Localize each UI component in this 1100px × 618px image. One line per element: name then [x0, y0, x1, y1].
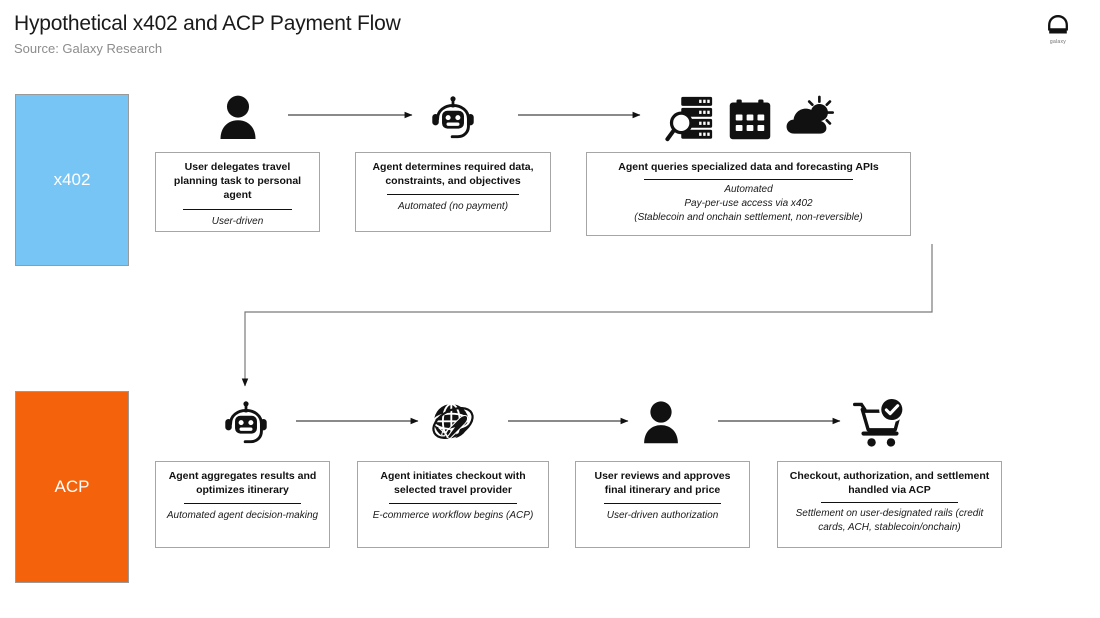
- step-box-4-heading: Agent aggregates results and optimizes i…: [164, 469, 321, 497]
- cart-check-icon: [851, 396, 909, 450]
- step-box-1-heading: User delegates travel planning task to p…: [164, 160, 311, 203]
- galaxy-logo-text: galaxy: [1040, 39, 1076, 45]
- page-title: Hypothetical x402 and ACP Payment Flow: [14, 12, 401, 36]
- server-search-icon: [664, 92, 718, 144]
- step-box-2-sub: Automated (no payment): [398, 200, 508, 214]
- step-box-5-sub: E-commerce workflow begins (ACP): [373, 509, 534, 523]
- lane-label-acp-text: ACP: [55, 477, 90, 497]
- robot-head-icon: [427, 92, 479, 144]
- lane-label-x402-text: x402: [54, 170, 91, 190]
- step-box-5-divider: [389, 503, 518, 504]
- step-box-5-heading: Agent initiates checkout with selected t…: [366, 469, 540, 497]
- step-box-3-divider: [644, 179, 853, 180]
- step-box-1: User delegates travel planning task to p…: [155, 152, 320, 232]
- page-subtitle: Source: Galaxy Research: [14, 41, 162, 56]
- lane-label-x402: x402: [15, 94, 129, 266]
- step-box-1-divider: [183, 209, 292, 210]
- step-box-7-divider: [821, 502, 958, 503]
- step-box-3-sub-3: (Stablecoin and onchain settlement, non-…: [634, 211, 862, 225]
- step-box-6-sub: User-driven authorization: [607, 509, 719, 523]
- step-box-3-sub-1: Automated: [724, 183, 772, 197]
- step-box-4: Agent aggregates results and optimizes i…: [155, 461, 330, 548]
- lane-label-acp: ACP: [15, 391, 129, 583]
- step-box-6-divider: [604, 503, 720, 504]
- step-box-2-divider: [387, 194, 519, 195]
- step-box-7-heading: Checkout, authorization, and settlement …: [786, 469, 993, 497]
- step-box-3-heading: Agent queries specialized data and forec…: [618, 160, 878, 174]
- globe-airplane-icon: [425, 396, 481, 450]
- calendar-icon: [726, 95, 774, 143]
- person-icon: [634, 396, 688, 450]
- person-icon: [210, 90, 266, 146]
- step-box-5: Agent initiates checkout with selected t…: [357, 461, 549, 548]
- step-box-3: Agent queries specialized data and forec…: [586, 152, 911, 236]
- step-box-2-heading: Agent determines required data, constrai…: [364, 160, 542, 188]
- step-box-7: Checkout, authorization, and settlement …: [777, 461, 1002, 548]
- step-box-1-sub: User-driven: [212, 215, 264, 229]
- step-box-2: Agent determines required data, constrai…: [355, 152, 551, 232]
- step-box-7-sub: Settlement on user-designated rails (cre…: [786, 507, 993, 535]
- diagram-canvas: Hypothetical x402 and ACP Payment Flow S…: [0, 0, 1100, 618]
- weather-cloud-sun-icon: [783, 93, 837, 143]
- step-box-6: User reviews and approves final itinerar…: [575, 461, 750, 548]
- step-box-4-divider: [184, 503, 300, 504]
- arrow-row1-to-row2-elbow: [245, 244, 932, 386]
- galaxy-logo: galaxy: [1040, 14, 1076, 48]
- step-box-6-heading: User reviews and approves final itinerar…: [584, 469, 741, 497]
- step-box-4-sub: Automated agent decision-making: [167, 509, 318, 523]
- step-box-3-sub-2: Pay-per-use access via x402: [684, 197, 812, 211]
- galaxy-logo-icon: [1046, 14, 1070, 38]
- robot-head-icon: [220, 397, 272, 449]
